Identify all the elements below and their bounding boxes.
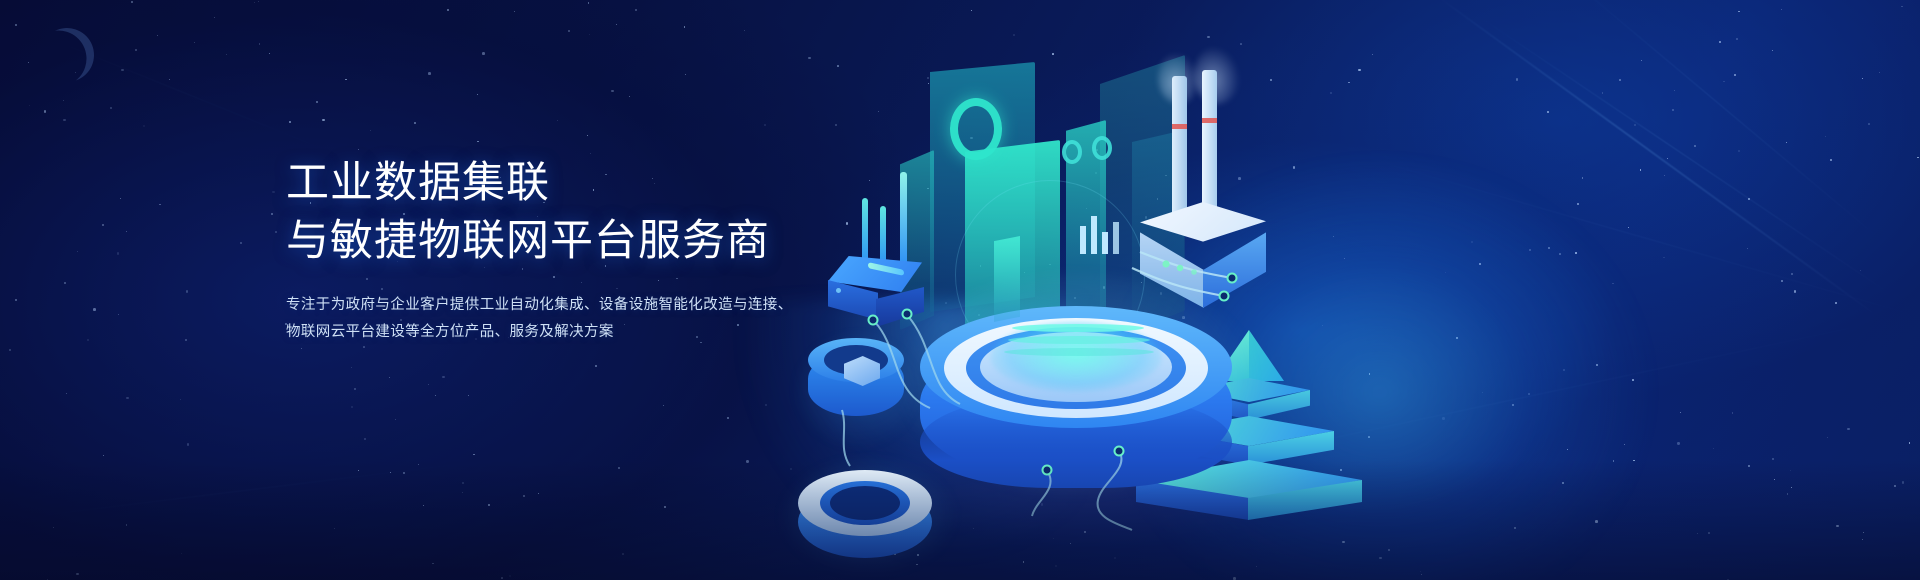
star-dot: [103, 455, 104, 456]
star-dot: [322, 119, 324, 121]
star-dot: [685, 74, 686, 75]
star-dot: [180, 399, 181, 400]
star-dot: [588, 2, 589, 3]
star-dot: [126, 397, 129, 400]
star-dot: [316, 101, 318, 103]
star-dot: [477, 94, 478, 95]
star-dot: [364, 438, 366, 440]
star-dot: [143, 125, 145, 127]
star-dot: [435, 395, 436, 396]
page-title-line-2: 与敏捷物联网平台服务商: [286, 213, 906, 271]
star-dot: [186, 290, 188, 292]
star-dot: [595, 365, 597, 367]
star-dot: [395, 419, 396, 420]
star-dot: [93, 308, 96, 311]
hero-banner: 工业数据集联 与敏捷物联网平台服务商 专注于为政府与企业客户提供工业自动化集成、…: [0, 0, 1920, 580]
bottom-vignette: [0, 460, 1920, 580]
star-dot: [587, 135, 588, 136]
star-dot: [9, 349, 11, 351]
star-dot: [15, 299, 16, 300]
star-dot: [727, 417, 729, 419]
page-subtitle-line-2: 物联网云平台建设等全方位产品、服务及解决方案: [286, 319, 906, 346]
star-dot: [44, 110, 47, 113]
star-dot: [589, 34, 591, 36]
star-dot: [120, 198, 121, 199]
star-dot: [370, 130, 371, 131]
star-dot: [131, 1, 133, 3]
star-dot: [744, 30, 745, 31]
star-dot: [428, 384, 429, 385]
star-dot: [389, 377, 390, 378]
star-dot: [629, 96, 630, 97]
star-dot: [102, 224, 104, 226]
star-dot: [468, 395, 469, 396]
star-dot: [214, 17, 215, 18]
star-dot: [169, 79, 170, 80]
star-dot: [269, 53, 270, 54]
star-dot: [289, 121, 291, 123]
star-dot: [473, 454, 475, 456]
star-dot: [616, 24, 617, 25]
star-dot: [159, 204, 160, 205]
page-subtitle-line-1: 专注于为政府与企业客户提供工业自动化集成、设备设施智能化改造与连接、: [286, 292, 906, 319]
star-dot: [351, 406, 353, 408]
star-dot: [29, 105, 30, 106]
star-dot: [63, 119, 65, 121]
star-dot: [442, 376, 444, 378]
star-dot: [118, 314, 119, 315]
star-dot: [663, 405, 664, 406]
star-dot: [557, 120, 558, 121]
star-dot: [240, 242, 242, 244]
star-dot: [226, 54, 227, 55]
star-dot: [477, 141, 478, 142]
star-dot: [117, 252, 119, 254]
star-dot: [447, 9, 449, 11]
star-dot: [77, 251, 78, 252]
star-dot: [428, 72, 431, 75]
star-dot: [157, 35, 158, 36]
star-dot: [351, 367, 352, 368]
star-dot: [63, 100, 64, 101]
star-dot: [259, 43, 260, 44]
star-dot: [354, 388, 356, 390]
star-dot: [684, 26, 686, 28]
star-dot: [345, 79, 347, 81]
star-dot: [187, 443, 189, 445]
star-dot: [414, 122, 416, 124]
star-dot: [64, 282, 66, 284]
star-dot: [110, 107, 112, 109]
star-dot: [275, 231, 277, 233]
star-dot: [301, 348, 303, 350]
star-dot: [568, 30, 570, 32]
star-dot: [15, 24, 17, 26]
star-dot: [258, 1, 259, 2]
star-dot: [66, 393, 67, 394]
star-dot: [28, 62, 29, 63]
star-dot: [185, 339, 187, 341]
star-dot: [254, 2, 255, 3]
star-dot: [764, 124, 766, 126]
star-dot: [611, 90, 614, 93]
star-dot: [358, 149, 359, 150]
star-dot: [363, 346, 365, 348]
star-dot: [126, 231, 127, 232]
star-dot: [135, 49, 137, 51]
star-dot: [482, 52, 485, 55]
star-dot: [87, 339, 89, 341]
star-dot: [272, 191, 275, 194]
star-dot: [271, 213, 273, 215]
star-dot: [635, 9, 638, 12]
page-title-line-1: 工业数据集联: [286, 155, 906, 213]
star-dot: [514, 11, 515, 12]
hero-copy: 工业数据集联 与敏捷物联网平台服务商 专注于为政府与企业客户提供工业自动化集成、…: [286, 155, 906, 346]
small-riser-block: [994, 236, 1020, 322]
star-dot: [194, 42, 195, 43]
